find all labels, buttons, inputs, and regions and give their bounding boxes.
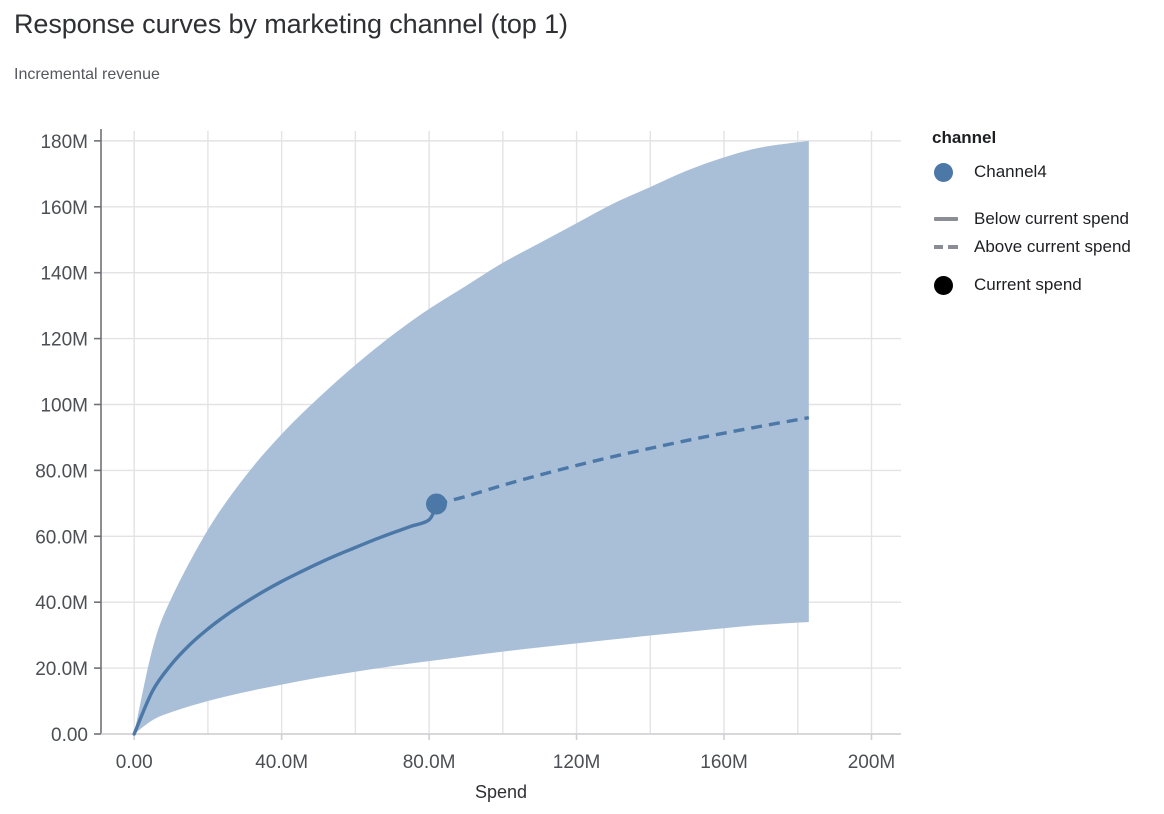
svg-text:80.0M: 80.0M	[403, 752, 456, 773]
legend-spacer-2	[932, 262, 1160, 272]
legend-swatch-current-spend	[932, 276, 968, 295]
svg-text:160M: 160M	[40, 198, 88, 219]
x-axis-tick-labels: 0.0040.0M80.0M120M160M200M	[116, 752, 896, 773]
legend-swatch-channel4	[932, 163, 968, 182]
legend-item-above-current-spend[interactable]: Above current spend	[932, 234, 1160, 260]
legend-label-current-spend: Current spend	[968, 275, 1082, 295]
svg-text:60.0M: 60.0M	[35, 527, 88, 548]
svg-text:180M: 180M	[40, 132, 88, 153]
y-axis-tick-labels: 0.0020.0M40.0M60.0M80.0M100M120M140M160M…	[35, 132, 88, 746]
legend-swatch-solid-line	[932, 217, 968, 221]
legend-label-channel4: Channel4	[968, 162, 1047, 182]
svg-text:40.0M: 40.0M	[255, 752, 308, 773]
svg-text:0.00: 0.00	[51, 725, 88, 746]
legend-item-current-spend[interactable]: Current spend	[932, 272, 1160, 298]
legend-label-above-current-spend: Above current spend	[968, 237, 1131, 257]
current-spend-dot-icon	[934, 276, 953, 295]
solid-line-icon	[934, 217, 958, 221]
legend: channel Channel4 Below current spend Abo…	[932, 128, 1160, 300]
svg-text:80.0M: 80.0M	[35, 461, 88, 482]
svg-text:120M: 120M	[40, 330, 88, 351]
series-color-dot-icon	[934, 163, 953, 182]
svg-text:140M: 140M	[40, 264, 88, 285]
response-curve-plot: 0.0020.0M40.0M60.0M80.0M100M120M140M160M…	[0, 0, 1164, 814]
legend-spacer	[932, 187, 1160, 206]
svg-text:160M: 160M	[700, 752, 748, 773]
legend-label-below-current-spend: Below current spend	[968, 209, 1129, 229]
legend-swatch-dashed-line	[932, 245, 968, 249]
svg-text:40.0M: 40.0M	[35, 593, 88, 614]
svg-text:20.0M: 20.0M	[35, 659, 88, 680]
legend-item-channel4[interactable]: Channel4	[932, 159, 1160, 185]
chart-container: Response curves by marketing channel (to…	[0, 0, 1164, 814]
dashed-line-icon	[934, 245, 958, 249]
svg-text:200M: 200M	[848, 752, 896, 773]
current-spend-marker	[426, 494, 447, 515]
legend-item-below-current-spend[interactable]: Below current spend	[932, 206, 1160, 232]
x-axis-title: Spend	[475, 782, 527, 802]
legend-title: channel	[932, 128, 1160, 148]
svg-text:120M: 120M	[553, 752, 601, 773]
svg-text:0.00: 0.00	[116, 752, 153, 773]
svg-text:100M: 100M	[40, 395, 88, 416]
